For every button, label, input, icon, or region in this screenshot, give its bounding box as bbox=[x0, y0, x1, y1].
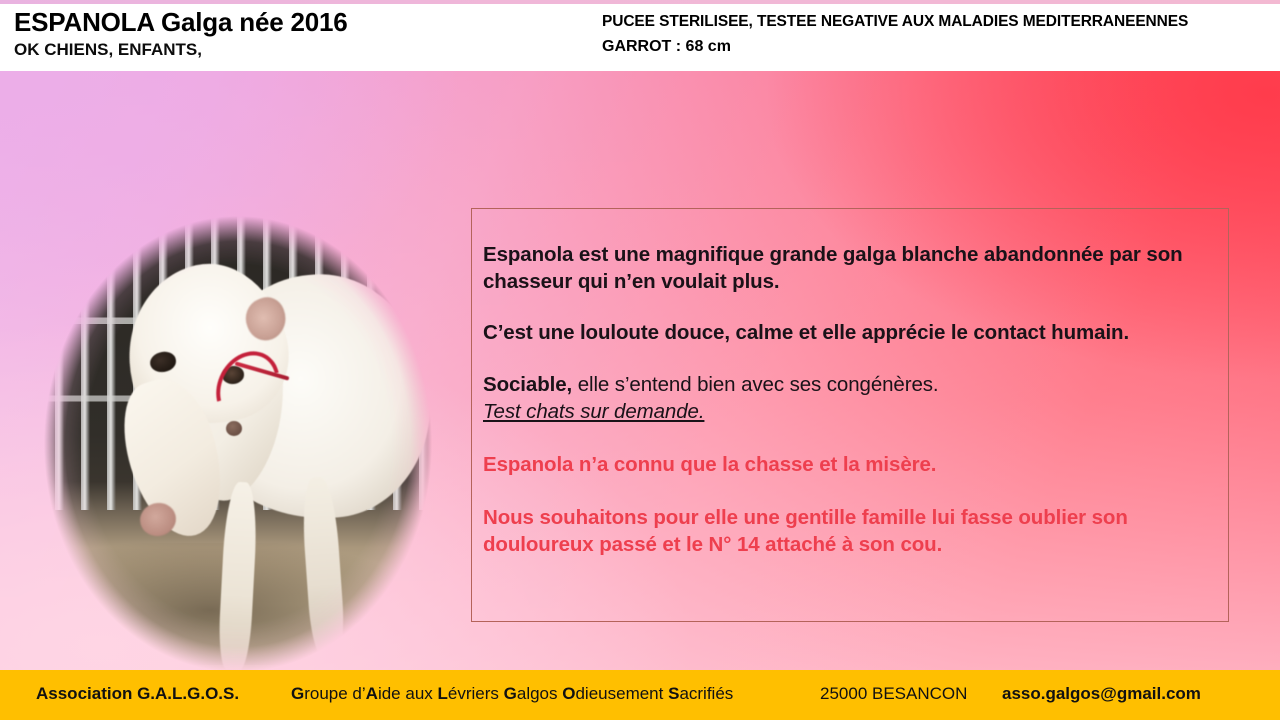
description-paragraph-1: Espanola est une magnifique grande galga… bbox=[483, 241, 1220, 295]
acronym-word-1: ide aux bbox=[378, 684, 438, 703]
association-full-name: Groupe d’Aide aux Lévriers Galgos Odieus… bbox=[291, 684, 733, 704]
poster-body: Espanola est une magnifique grande galga… bbox=[0, 71, 1280, 670]
acronym-word-5: acrifiés bbox=[679, 684, 733, 703]
footer-row: Association G.A.L.G.O.S. Groupe d’Aide a… bbox=[0, 670, 1280, 720]
sociable-rest: elle s’entend bien avec ses congénères. bbox=[572, 373, 938, 396]
acronym-initial-0: G bbox=[291, 684, 304, 703]
poster-footer: Association G.A.L.G.O.S. Groupe d’Aide a… bbox=[0, 670, 1280, 720]
acronym-initial-1: A bbox=[366, 684, 378, 703]
description-red-paragraph-2: Nous souhaitons pour elle une gentille f… bbox=[483, 504, 1220, 558]
association-name: Association G.A.L.G.O.S. bbox=[36, 684, 239, 704]
association-email[interactable]: asso.galgos@gmail.com bbox=[1002, 684, 1201, 704]
description-sociable-paragraph: Sociable, elle s’entend bien avec ses co… bbox=[483, 371, 1220, 425]
description-content: Espanola est une magnifique grande galga… bbox=[483, 241, 1220, 558]
description-box: Espanola est une magnifique grande galga… bbox=[471, 208, 1229, 622]
description-paragraph-2: C’est une louloute douce, calme et elle … bbox=[483, 319, 1220, 346]
adoption-poster: ESPANOLA Galga née 2016 OK CHIENS, ENFAN… bbox=[0, 0, 1280, 720]
compatibility-line: OK CHIENS, ENFANTS, bbox=[14, 38, 594, 62]
poster-header: ESPANOLA Galga née 2016 OK CHIENS, ENFAN… bbox=[0, 4, 1280, 71]
acronym-word-4: dieusement bbox=[575, 684, 668, 703]
sociable-label: Sociable, bbox=[483, 373, 572, 396]
dog-photo bbox=[38, 209, 438, 679]
acronym-word-2: évriers bbox=[448, 684, 504, 703]
collar-tag bbox=[226, 421, 242, 436]
acronym-initial-4: O bbox=[562, 684, 575, 703]
dog-name-title: ESPANOLA Galga née 2016 bbox=[14, 6, 594, 38]
acronym-initial-5: S bbox=[668, 684, 679, 703]
header-right-block: PUCEE STERILISEE, TESTEE NEGATIVE AUX MA… bbox=[602, 10, 1274, 59]
acronym-word-3: algos bbox=[517, 684, 562, 703]
acronym-initial-3: G bbox=[504, 684, 517, 703]
header-left-block: ESPANOLA Galga née 2016 OK CHIENS, ENFAN… bbox=[14, 6, 594, 62]
health-status-line: PUCEE STERILISEE, TESTEE NEGATIVE AUX MA… bbox=[602, 10, 1274, 34]
association-city: 25000 BESANCON bbox=[820, 684, 967, 704]
acronym-initial-2: L bbox=[438, 684, 448, 703]
dog-photo-oval-frame bbox=[38, 209, 438, 679]
withers-height-line: GARROT : 68 cm bbox=[602, 34, 1274, 59]
description-red-paragraph-1: Espanola n’a connu que la chasse et la m… bbox=[483, 451, 1220, 478]
acronym-word-0: roupe d’ bbox=[304, 684, 365, 703]
cat-test-note: Test chats sur demande. bbox=[483, 398, 704, 425]
